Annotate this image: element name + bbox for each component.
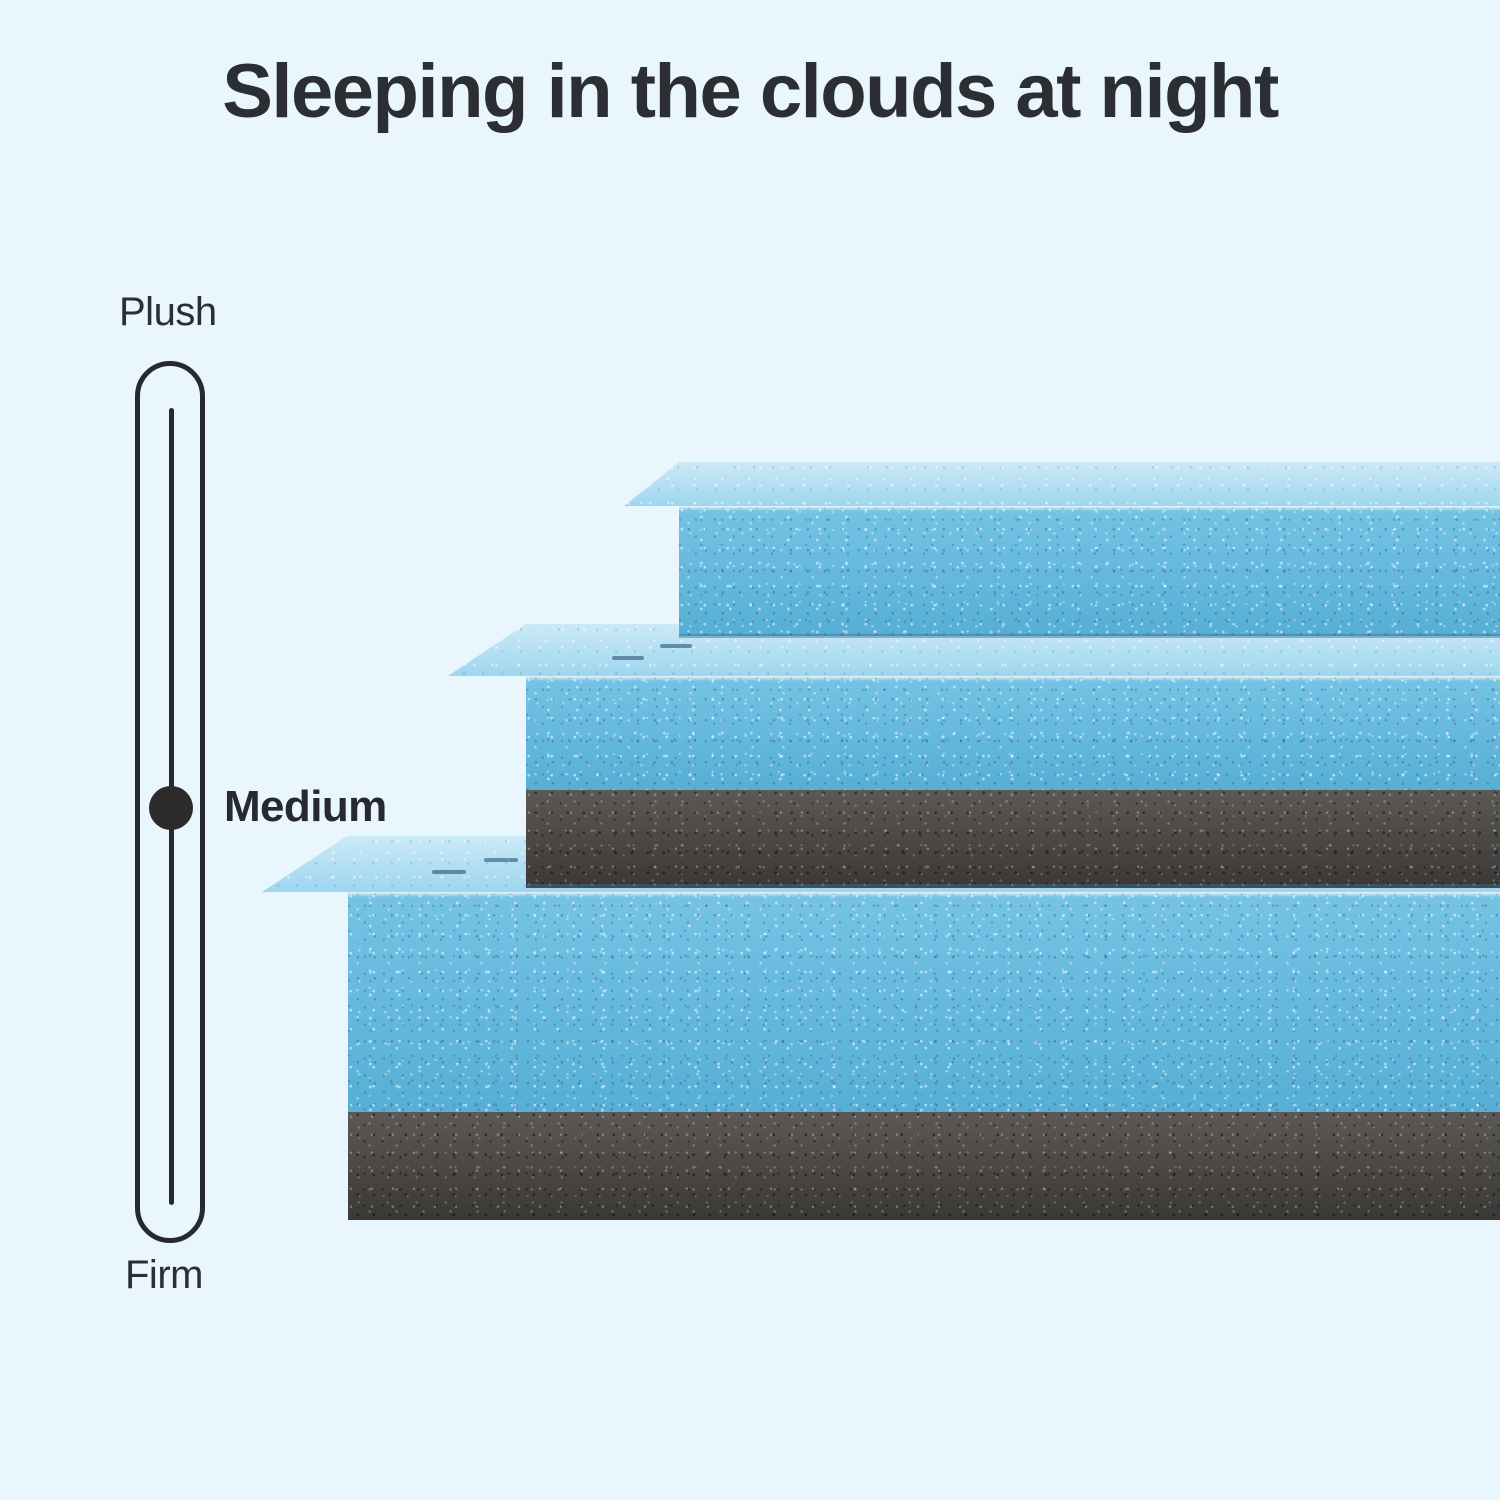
foam-gray-layer-middle-block <box>526 790 1500 888</box>
foam-blue-layer-top-block <box>679 506 1500 636</box>
infographic-canvas: Sleeping in the clouds at night <box>0 0 1500 1500</box>
scale-label-firm: Firm <box>125 1253 203 1298</box>
foam-edge-highlight <box>526 676 1500 681</box>
foam-top-face-middle-block <box>448 624 1500 676</box>
foam-blue-layer-bottom-block <box>348 892 1500 1112</box>
firmness-slider-thumb[interactable] <box>149 786 193 830</box>
foam-block-top <box>624 462 1500 640</box>
foam-edge-highlight <box>679 506 1500 511</box>
foam-seam-line <box>526 884 1500 888</box>
foam-edge-highlight <box>348 892 1500 897</box>
foam-seam-line <box>679 634 1500 638</box>
page-title: Sleeping in the clouds at night <box>0 48 1500 135</box>
foam-block-middle <box>448 624 1500 888</box>
firmness-scale[interactable]: Plush Medium Firm <box>100 290 520 1310</box>
foam-top-face-top-block <box>624 462 1500 506</box>
scale-label-medium: Medium <box>224 782 387 832</box>
foam-gray-layer-bottom-block <box>348 1112 1500 1220</box>
foam-blue-layer-middle-block <box>526 676 1500 790</box>
scale-label-plush: Plush <box>119 290 217 335</box>
